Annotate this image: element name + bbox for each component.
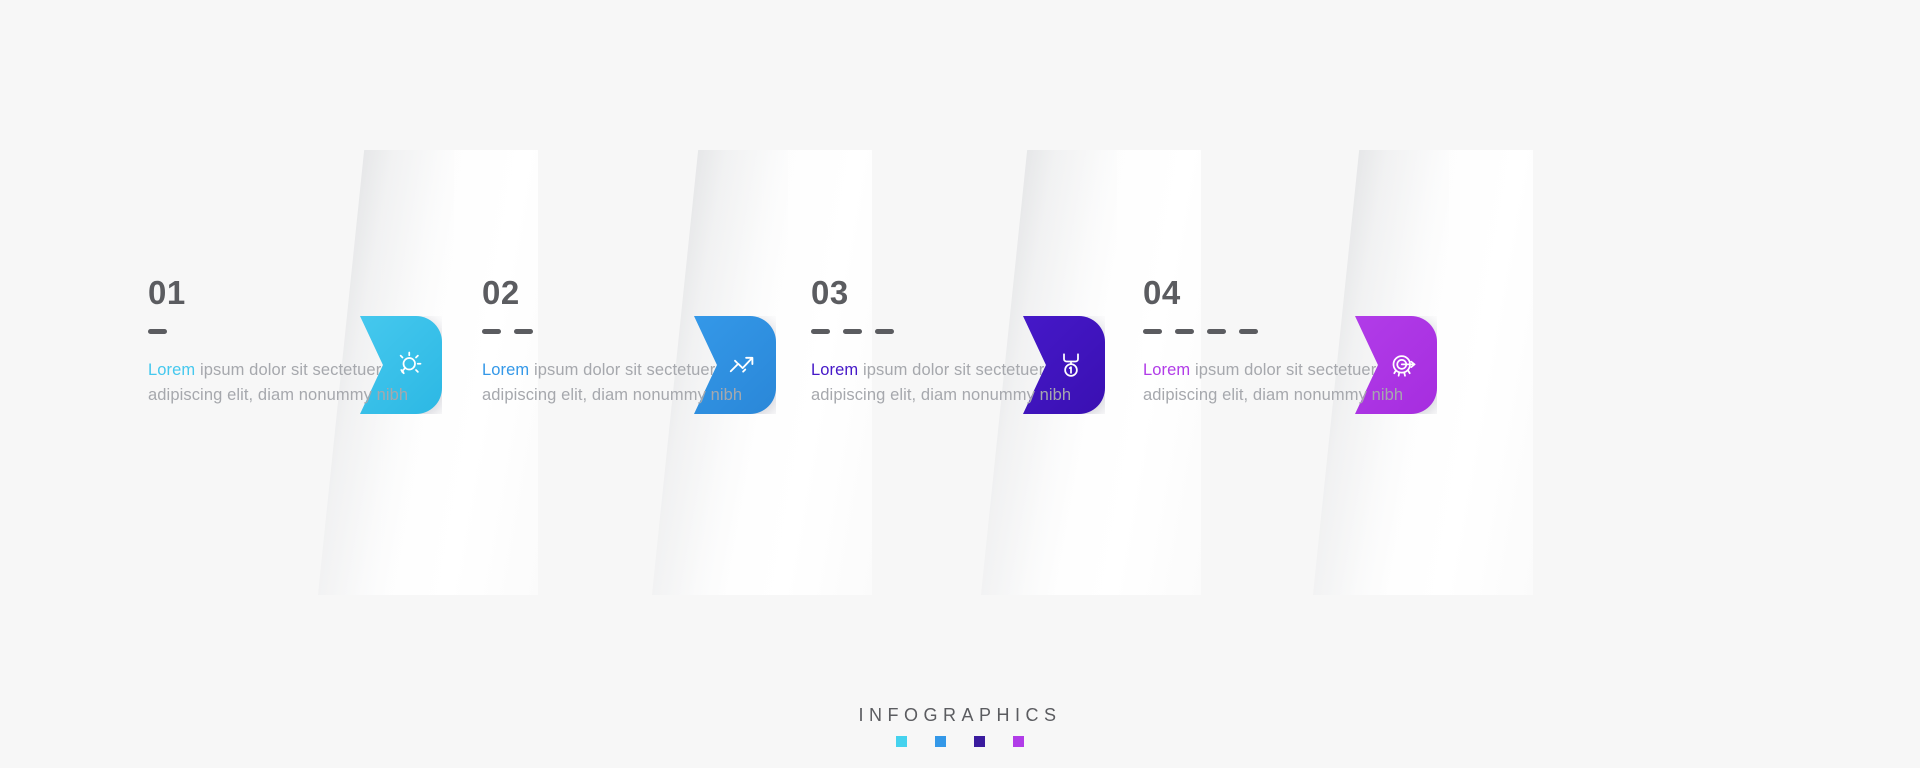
- step-description: Lorem ipsum dolor sit sectetuer adipisci…: [148, 358, 448, 408]
- footer-swatch: [1013, 736, 1024, 747]
- step-dashes: [1143, 329, 1443, 334]
- step-number: 02: [482, 276, 782, 309]
- dash-mark: [843, 329, 862, 334]
- footer-title: INFOGRAPHICS: [0, 705, 1920, 726]
- dash-mark: [811, 329, 830, 334]
- step-lead-word: Lorem: [148, 361, 195, 379]
- dash-mark: [1207, 329, 1226, 334]
- step-card-2: 02 Lorem ipsum dolor sit sectetuer adipi…: [482, 276, 782, 408]
- dash-mark: [875, 329, 894, 334]
- footer-swatch: [935, 736, 946, 747]
- step-lead-word: Lorem: [811, 361, 858, 379]
- step-description: Lorem ipsum dolor sit sectetuer adipisci…: [811, 358, 1111, 408]
- step-lead-word: Lorem: [482, 361, 529, 379]
- step-lead-word: Lorem: [1143, 361, 1190, 379]
- step-number: 04: [1143, 276, 1443, 309]
- footer: INFOGRAPHICS: [0, 705, 1920, 747]
- dash-mark: [1239, 329, 1258, 334]
- step-description: Lorem ipsum dolor sit sectetuer adipisci…: [482, 358, 782, 408]
- step-dashes: [811, 329, 1111, 334]
- step-number: 03: [811, 276, 1111, 309]
- step-dashes: [148, 329, 448, 334]
- step-card-3: 03 Lorem ipsum dolor sit sectetuer adipi…: [811, 276, 1111, 408]
- step-dashes: [482, 329, 782, 334]
- dash-mark: [1175, 329, 1194, 334]
- step-description: Lorem ipsum dolor sit sectetuer adipisci…: [1143, 358, 1443, 408]
- dash-mark: [514, 329, 533, 334]
- footer-swatches: [0, 736, 1920, 747]
- step-card-1: 01 Lorem ipsum dolor sit sectetuer adipi…: [148, 276, 448, 408]
- footer-swatch: [896, 736, 907, 747]
- step-card-4: 04 Lorem ipsum dolor sit sectetuer adipi…: [1143, 276, 1443, 408]
- dash-mark: [1143, 329, 1162, 334]
- footer-swatch: [974, 736, 985, 747]
- dash-mark: [148, 329, 167, 334]
- dash-mark: [482, 329, 501, 334]
- infographic-canvas: 01 Lorem ipsum dolor sit sectetuer adipi…: [0, 0, 1920, 768]
- step-number: 01: [148, 276, 448, 309]
